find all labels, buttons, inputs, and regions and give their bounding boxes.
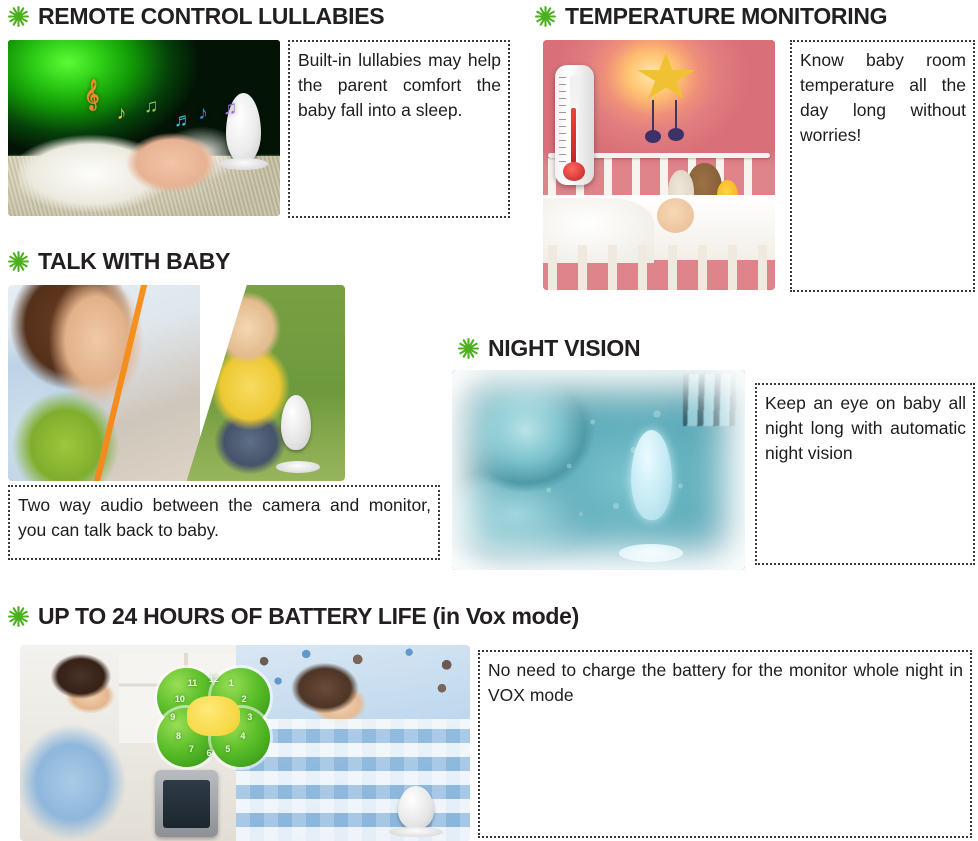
feature-heading-remote-control-lullabies: REMOTE CONTROL LULLABIES xyxy=(8,3,384,30)
green-starburst-icon xyxy=(8,6,29,27)
clock-number: 3 xyxy=(247,712,252,722)
heading-text: TALK WITH BABY xyxy=(38,248,230,275)
talk-with-baby-photo xyxy=(8,285,345,481)
heading-text: REMOTE CONTROL LULLABIES xyxy=(38,3,384,30)
battery-life-photo: 12 1 2 3 4 5 6 7 8 9 10 11 xyxy=(20,645,470,841)
parent-monitor-unit xyxy=(155,770,218,837)
caption-text: Built-in lullabies may help the parent c… xyxy=(298,48,501,123)
green-starburst-icon xyxy=(8,251,29,272)
clover-center xyxy=(187,696,241,736)
clock-number: 11 xyxy=(188,678,198,688)
baby-monitor-camera xyxy=(398,786,434,829)
crib-bars-lower xyxy=(548,245,771,290)
star-foot xyxy=(645,130,661,143)
clock-number: 12 xyxy=(209,674,219,684)
lullabies-photo: 𝄞 ♪ ♫ ♬ ♪ ♫ xyxy=(8,40,280,216)
clover-clock-icon: 12 1 2 3 4 5 6 7 8 9 10 11 xyxy=(155,661,272,779)
heading-text: TEMPERATURE MONITORING xyxy=(565,3,887,30)
caption-text: Know baby room temperature all the day l… xyxy=(800,48,966,148)
star-leg xyxy=(652,100,654,133)
music-note-icon: ♪ xyxy=(117,103,127,125)
clock-number: 10 xyxy=(175,694,185,704)
clock-number: 8 xyxy=(176,731,181,741)
feature-heading-temperature-monitoring: TEMPERATURE MONITORING xyxy=(535,3,887,30)
green-starburst-icon xyxy=(535,6,556,27)
music-note-icon: ♫ xyxy=(223,98,237,120)
music-note-icon: 𝄞 xyxy=(84,79,99,111)
clock-number: 6 xyxy=(206,748,211,758)
caption-text: No need to charge the battery for the mo… xyxy=(488,658,963,708)
caption-box-temperature-monitoring: Know baby room temperature all the day l… xyxy=(790,40,975,292)
sleeping-baby xyxy=(19,121,231,213)
heading-text: NIGHT VISION xyxy=(488,335,640,362)
clock-number: 9 xyxy=(170,712,175,722)
clock-number: 1 xyxy=(229,678,234,688)
clock-number: 5 xyxy=(225,744,230,754)
white-vignette xyxy=(452,370,745,570)
music-note-icon: ♬ xyxy=(174,110,193,132)
feature-heading-battery-life: UP TO 24 HOURS OF BATTERY LIFE (in Vox m… xyxy=(8,603,579,630)
green-starburst-icon xyxy=(8,606,29,627)
green-starburst-icon xyxy=(458,338,479,359)
camera-base xyxy=(219,158,268,170)
caption-text: Two way audio between the camera and mon… xyxy=(18,493,431,543)
clock-number: 7 xyxy=(189,744,194,754)
thermometer-icon xyxy=(555,65,594,185)
caption-box-night-vision: Keep an eye on baby all night long with … xyxy=(755,383,975,565)
star-foot xyxy=(668,128,684,141)
feature-heading-talk-with-baby: TALK WITH BABY xyxy=(8,248,230,275)
feature-heading-night-vision: NIGHT VISION xyxy=(458,335,640,362)
temperature-photo xyxy=(543,40,775,290)
caption-text: Keep an eye on baby all night long with … xyxy=(765,391,966,466)
music-note-icon: ♪ xyxy=(198,103,208,125)
caption-box-remote-control-lullabies: Built-in lullabies may help the parent c… xyxy=(288,40,510,218)
caption-box-battery-life: No need to charge the battery for the mo… xyxy=(478,650,972,838)
clock-number: 2 xyxy=(242,694,247,704)
sleeping-baby xyxy=(657,198,694,233)
heading-text: UP TO 24 HOURS OF BATTERY LIFE (in Vox m… xyxy=(38,603,579,630)
night-vision-photo xyxy=(452,370,745,570)
caption-box-talk-with-baby: Two way audio between the camera and mon… xyxy=(8,485,440,560)
clock-number: 4 xyxy=(240,731,245,741)
baby-half xyxy=(187,285,345,481)
music-note-icon: ♫ xyxy=(144,96,158,118)
